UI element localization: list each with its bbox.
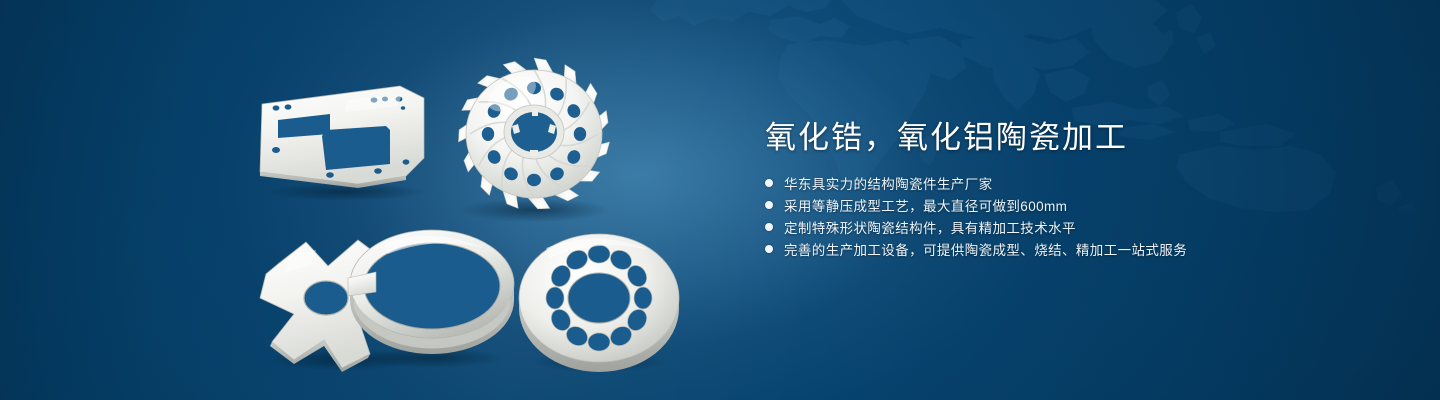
- feature-list-item: 华东具实力的结构陶瓷件生产厂家: [765, 172, 1187, 194]
- banner-title: 氧化锆，氧化铝陶瓷加工: [765, 112, 1128, 157]
- ceramic-plate: [248, 72, 436, 200]
- bullet-dot-icon: [765, 201, 773, 209]
- feature-text: 完善的生产加工设备，可提供陶瓷成型、烧结、精加工一站式服务: [784, 239, 1187, 259]
- banner-text-block: 氧化锆，氧化铝陶瓷加工 华东具实力的结构陶瓷件生产厂家 采用等静压成型工艺，最大…: [765, 0, 1385, 400]
- feature-list-item: 定制特殊形状陶瓷结构件，具有精加工技术水平: [765, 216, 1187, 238]
- hero-banner: 氧化锆，氧化铝陶瓷加工 华东具实力的结构陶瓷件生产厂家 采用等静压成型工艺，最大…: [0, 0, 1440, 400]
- feature-list: 华东具实力的结构陶瓷件生产厂家 采用等静压成型工艺，最大直径可做到600mm 定…: [765, 172, 1187, 260]
- feature-list-item: 完善的生产加工设备，可提供陶瓷成型、烧结、精加工一站式服务: [765, 238, 1187, 260]
- feature-text: 采用等静压成型工艺，最大直径可做到600mm: [784, 195, 1067, 215]
- bullet-dot-icon: [765, 223, 773, 231]
- ceramic-ring: [342, 222, 522, 374]
- ceramic-perforated-disc: [516, 226, 682, 376]
- ceramic-impeller: [444, 50, 624, 228]
- feature-text: 华东具实力的结构陶瓷件生产厂家: [784, 173, 993, 193]
- feature-list-item: 采用等静压成型工艺，最大直径可做到600mm: [765, 194, 1187, 216]
- bullet-dot-icon: [765, 245, 773, 253]
- product-image-group: [0, 0, 740, 400]
- feature-text: 定制特殊形状陶瓷结构件，具有精加工技术水平: [784, 217, 1076, 237]
- bullet-dot-icon: [765, 179, 773, 187]
